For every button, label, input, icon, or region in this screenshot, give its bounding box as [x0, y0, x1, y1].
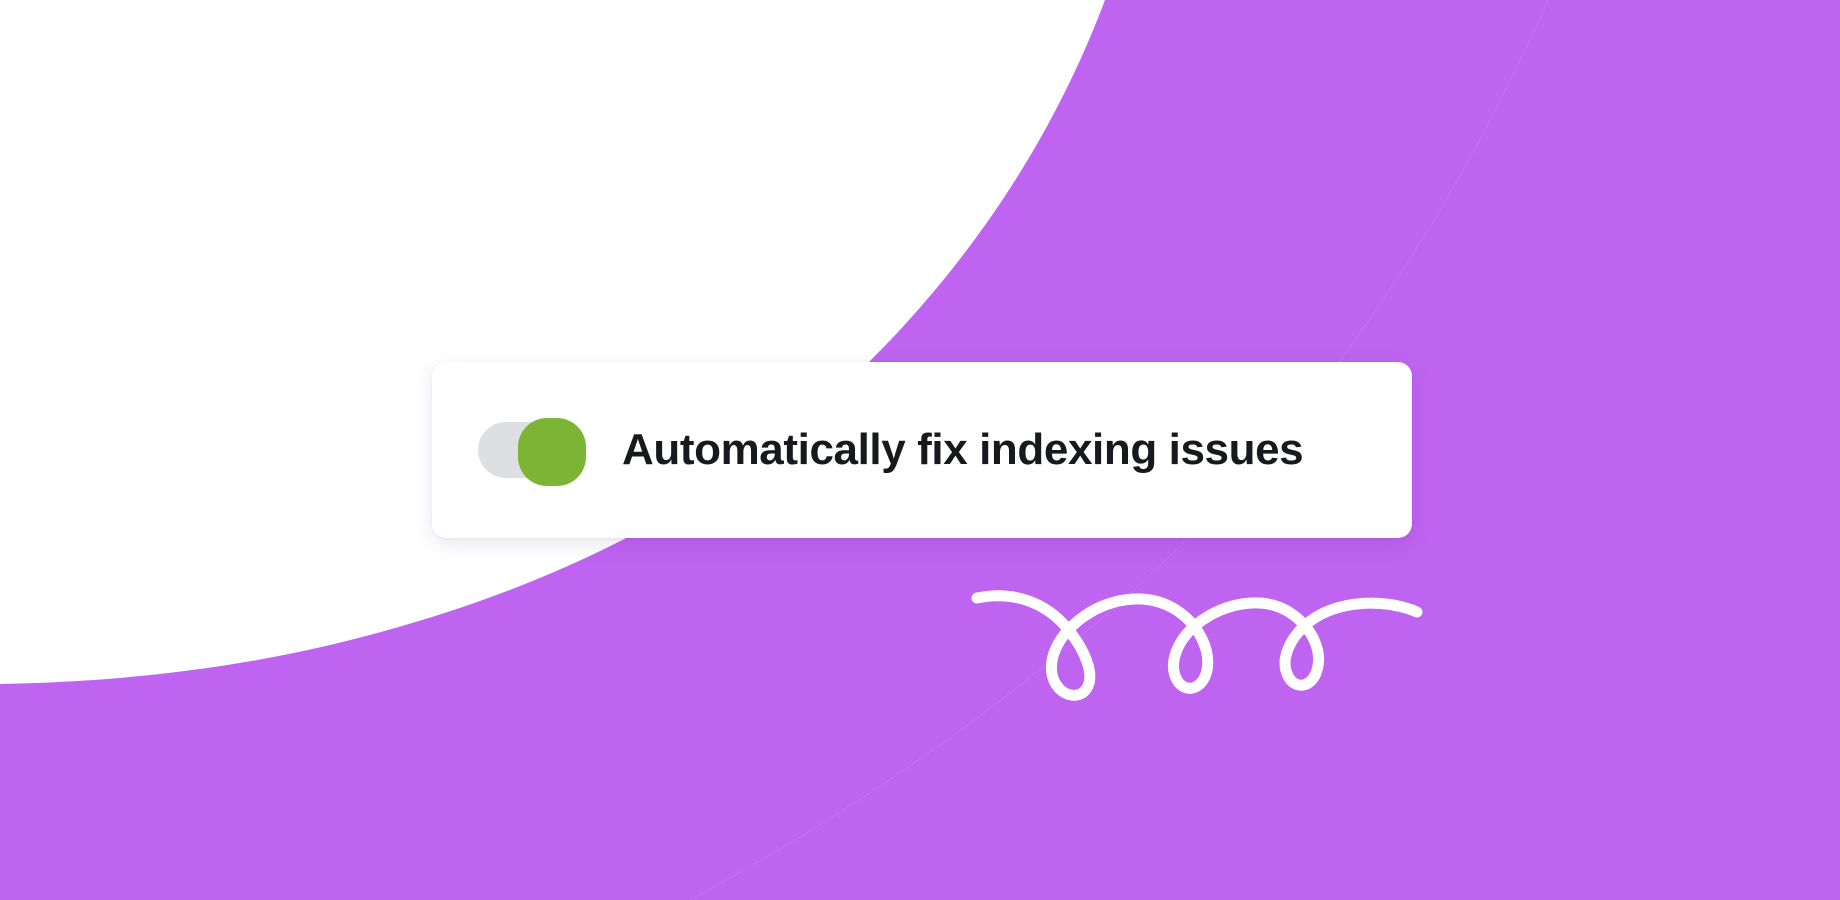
- toggle-knob-icon: [518, 418, 586, 486]
- auto-fix-indexing-toggle[interactable]: [478, 418, 588, 482]
- hero-banner: Automatically fix indexing issues: [0, 0, 1840, 900]
- setting-label: Automatically fix indexing issues: [622, 428, 1303, 472]
- setting-card: Automatically fix indexing issues: [432, 362, 1412, 538]
